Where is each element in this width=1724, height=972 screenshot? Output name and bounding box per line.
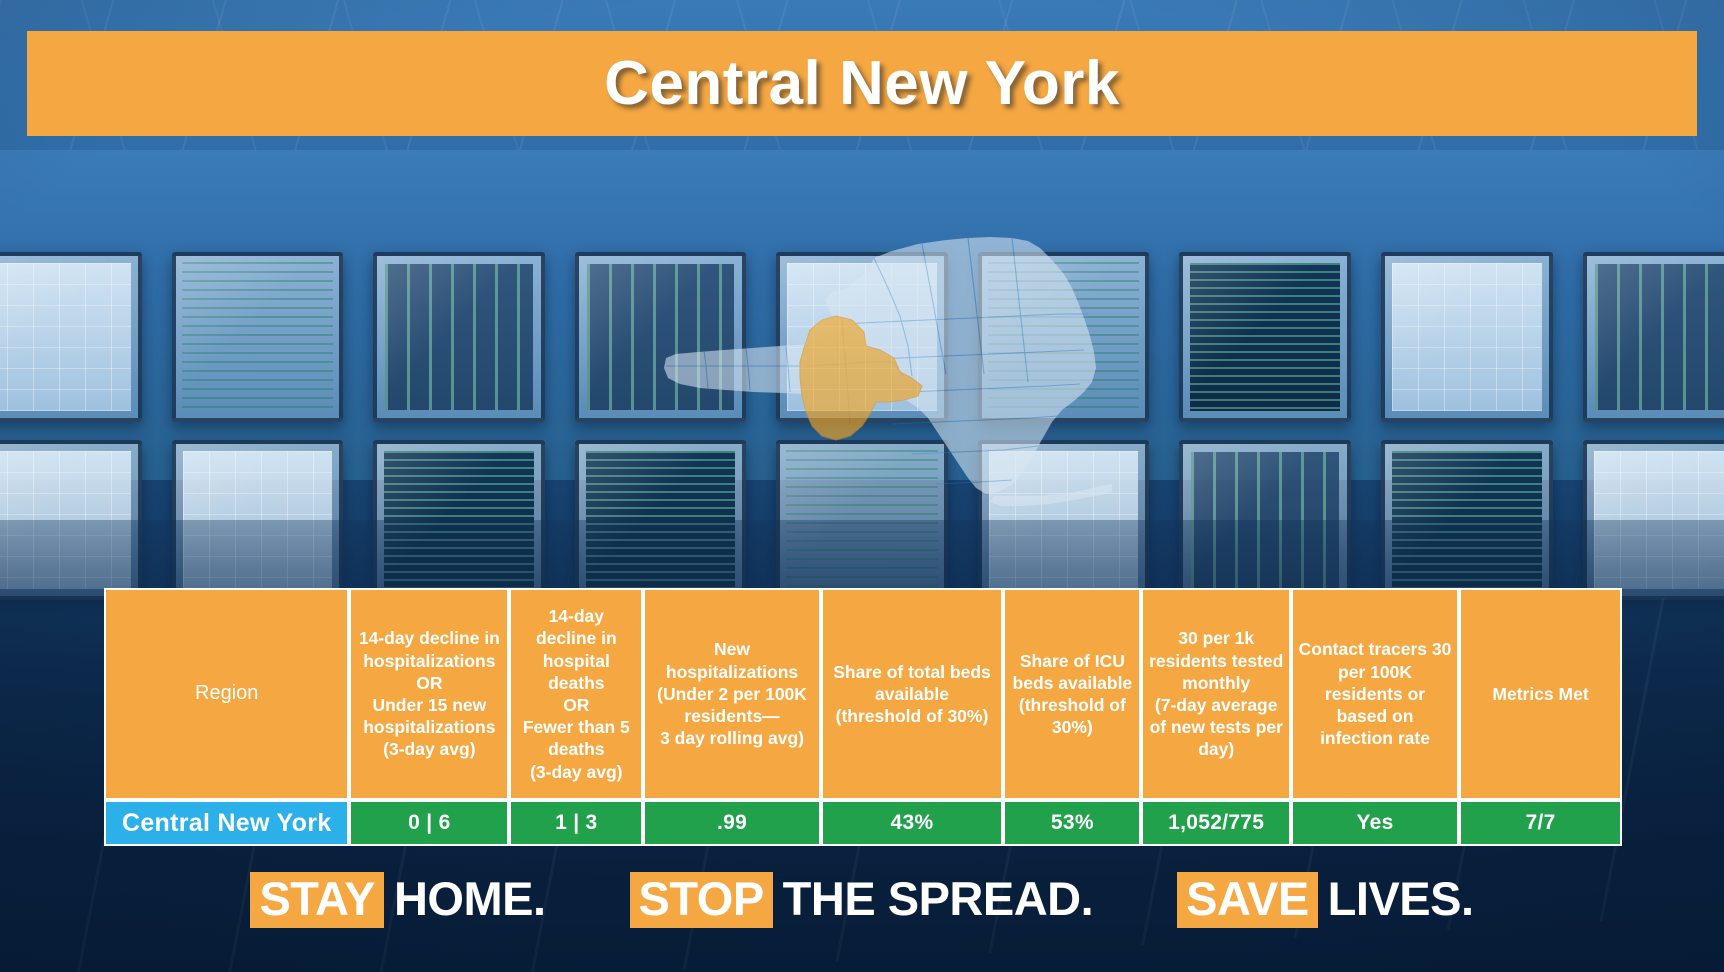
metrics-table: Region 14-day decline in hospitalization…	[104, 588, 1622, 846]
slogan-stop-the-spread: STOP THE SPREAD.	[630, 871, 1094, 928]
map-long-island	[990, 484, 1112, 506]
slogan-highlight-save: SAVE	[1177, 872, 1318, 928]
cell-total-beds-available: 43%	[821, 800, 1004, 846]
table-header: Region 14-day decline in hospitalization…	[104, 588, 1622, 800]
slide-root: Central New York Region 14-day decline i…	[0, 0, 1724, 972]
public-health-slogan-bar: STAY HOME. STOP THE SPREAD. SAVE LIVES.	[0, 871, 1724, 928]
column-header-icu-beds-available: Share of ICU beds available(threshold of…	[1003, 588, 1141, 800]
cell-contact-tracers: Yes	[1291, 800, 1459, 846]
column-header-metrics-met: Metrics Met	[1459, 588, 1622, 800]
cell-metrics-met: 7/7	[1459, 800, 1622, 846]
table-row: Central New York 0 | 6 1 | 3 .99 43% 53%…	[104, 800, 1622, 846]
slogan-highlight-stay: STAY	[250, 872, 384, 928]
slogan-save-lives: SAVE LIVES.	[1177, 871, 1473, 928]
slogan-rest-lives: LIVES.	[1328, 871, 1474, 926]
slogan-rest-the-spread: THE SPREAD.	[783, 871, 1094, 926]
cell-hospital-deaths-decline: 1 | 3	[509, 800, 643, 846]
column-header-total-beds-available: Share of total beds available(threshold …	[821, 588, 1004, 800]
column-header-hospital-deaths-decline: 14-day decline in hospital deathsORFewer…	[509, 588, 643, 800]
page-title: Central New York	[604, 48, 1120, 119]
column-header-diagnostic-testing: 30 per 1k residents tested monthly(7-day…	[1141, 588, 1291, 800]
column-header-new-hospitalizations: New hospitalizations(Under 2 per 100K re…	[643, 588, 820, 800]
cell-icu-beds-available: 53%	[1003, 800, 1141, 846]
new-york-map	[660, 196, 1120, 536]
slide-title-bar: Central New York	[27, 31, 1697, 136]
slogan-highlight-stop: STOP	[630, 872, 773, 928]
cell-new-hospitalizations: .99	[643, 800, 820, 846]
slogan-stay-home: STAY HOME.	[250, 871, 545, 928]
cell-diagnostic-testing: 1,052/775	[1141, 800, 1291, 846]
column-header-contact-tracers: Contact tracers 30 per 100K residents or…	[1291, 588, 1459, 800]
column-header-region: Region	[104, 588, 349, 800]
slogan-rest-home: HOME.	[394, 871, 546, 926]
table-body: Central New York 0 | 6 1 | 3 .99 43% 53%…	[104, 800, 1622, 846]
table-header-row: Region 14-day decline in hospitalization…	[104, 588, 1622, 800]
column-header-hospitalization-decline: 14-day decline in hospitalizationsORUnde…	[349, 588, 509, 800]
cell-hospitalization-decline: 0 | 6	[349, 800, 509, 846]
cell-region: Central New York	[104, 800, 349, 846]
